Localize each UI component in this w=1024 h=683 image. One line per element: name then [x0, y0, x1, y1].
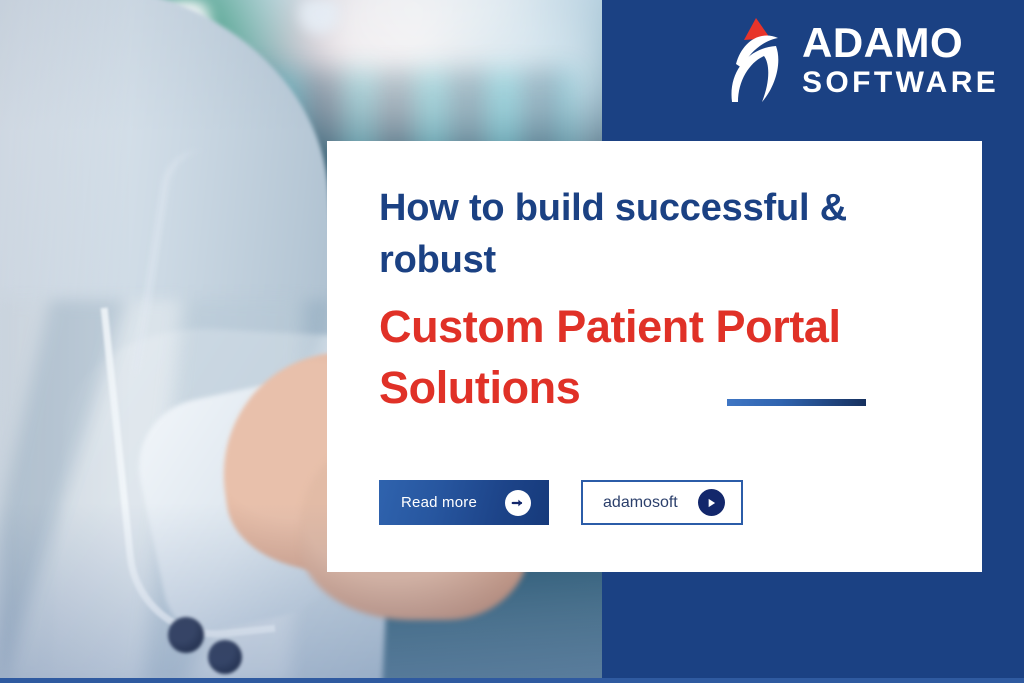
brand-logo[interactable]: ADAMO SOFTWARE — [726, 14, 999, 106]
bottom-accent-rule — [0, 678, 1024, 683]
arrow-right-circle-icon — [505, 490, 531, 516]
adamo-swoosh-logo-icon — [726, 14, 788, 106]
brand-wordmark: ADAMO SOFTWARE — [802, 22, 999, 98]
read-more-label: Read more — [401, 494, 477, 511]
gradient-divider-rule — [727, 399, 866, 406]
cta-button-row: Read more adamosoft — [379, 480, 743, 525]
adamosoft-label: adamosoft — [603, 494, 678, 512]
marketing-banner: ADAMO SOFTWARE How to build successful &… — [0, 0, 1024, 683]
headline-highlight: Custom Patient Portal Solutions — [379, 297, 979, 419]
content-card: How to build successful & robust Custom … — [327, 141, 982, 572]
brand-name-secondary: SOFTWARE — [802, 68, 999, 98]
brand-name-primary: ADAMO — [802, 22, 999, 64]
read-more-button[interactable]: Read more — [379, 480, 549, 525]
headline-primary: How to build successful & robust — [379, 183, 959, 286]
play-circle-icon — [698, 489, 725, 516]
adamosoft-button[interactable]: adamosoft — [581, 480, 743, 525]
